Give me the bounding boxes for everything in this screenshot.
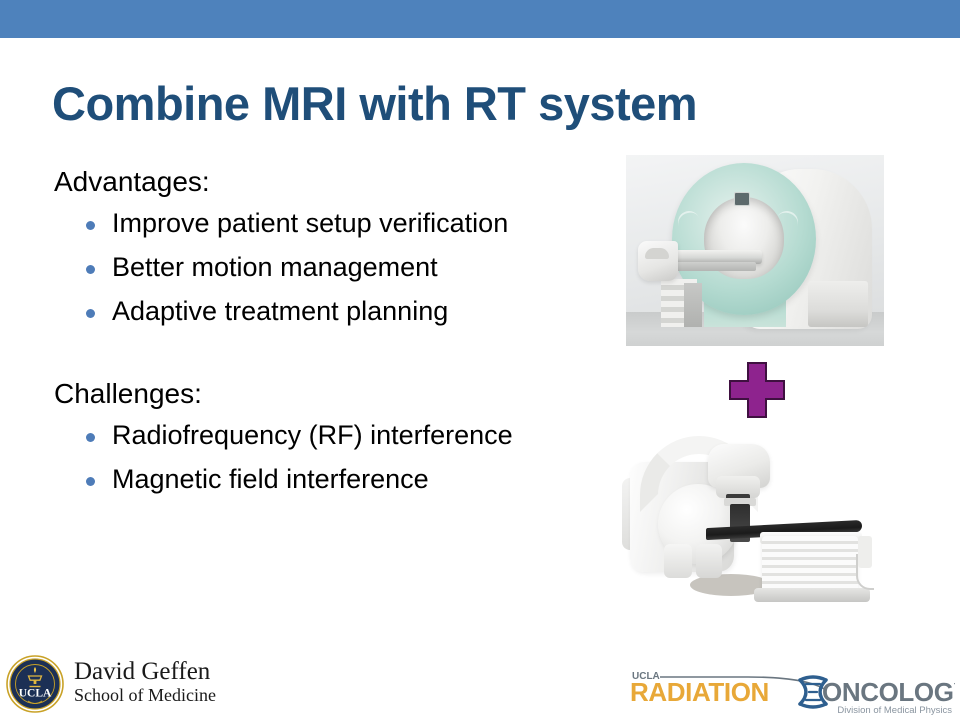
- list-item: Radiofrequency (RF) interference: [54, 422, 614, 449]
- bullet-dot-icon: [86, 477, 95, 486]
- geffen-wordmark: David Geffen School of Medicine: [74, 659, 216, 707]
- linac-lower-pod-right: [696, 544, 722, 578]
- linac-lower-pod-left: [664, 544, 692, 578]
- geffen-name: David Geffen: [74, 659, 216, 685]
- bullet-dot-icon: [86, 433, 95, 442]
- mri-bore-display: [734, 192, 750, 206]
- svg-text:UCLA: UCLA: [19, 688, 52, 700]
- slide-canvas: Combine MRI with RT system Advantages: I…: [0, 0, 960, 720]
- list-item-label: Improve patient setup verification: [112, 208, 508, 238]
- section-heading-advantages: Advantages:: [54, 168, 614, 196]
- header-accent-band: [0, 0, 960, 38]
- list-item: Adaptive treatment planning: [54, 298, 614, 325]
- list-item: Better motion management: [54, 254, 614, 281]
- section-heading-challenges: Challenges:: [54, 380, 614, 408]
- list-item-label: Adaptive treatment planning: [112, 296, 448, 326]
- linac-couch-base: [762, 536, 858, 592]
- linac-couch-foot: [754, 588, 870, 602]
- radiation-oncology-logo: UCLA RADIATION ONCOLOGY Division of Medi…: [630, 668, 955, 716]
- bullet-dot-icon: [86, 265, 95, 274]
- linear-accelerator-photo: [612, 432, 912, 622]
- svg-text:RADIATION: RADIATION: [630, 677, 769, 707]
- bullet-list-challenges: Radiofrequency (RF) interference Magneti…: [54, 422, 614, 493]
- list-item: Magnetic field interference: [54, 466, 614, 493]
- geffen-subtitle: School of Medicine: [74, 685, 216, 707]
- mri-head-coil: [638, 241, 678, 281]
- ucla-seal-icon: UCLA: [6, 655, 64, 713]
- mri-scanner-photo: [626, 155, 884, 346]
- linac-pendant-cable: [856, 554, 874, 590]
- list-item-label: Radiofrequency (RF) interference: [112, 420, 513, 450]
- mri-table-column: [684, 283, 702, 327]
- geffen-school-logo: UCLA David Geffen School of Medicine: [6, 655, 221, 715]
- svg-text:ONCOLOGY: ONCOLOGY: [822, 677, 955, 707]
- list-item-label: Better motion management: [112, 252, 438, 282]
- bullet-list-advantages: Improve patient setup verification Bette…: [54, 210, 614, 325]
- list-item: Improve patient setup verification: [54, 210, 614, 237]
- page-title: Combine MRI with RT system: [52, 79, 852, 130]
- body-content: Advantages: Improve patient setup verifi…: [54, 168, 614, 510]
- bullet-dot-icon: [86, 309, 95, 318]
- bullet-dot-icon: [86, 221, 95, 230]
- plus-icon: [727, 360, 787, 420]
- mri-rear-cabinet: [808, 281, 868, 327]
- list-item-label: Magnetic field interference: [112, 464, 429, 494]
- svg-text:Division of Medical Physics: Division of Medical Physics: [837, 705, 952, 716]
- section-spacer: [54, 342, 614, 380]
